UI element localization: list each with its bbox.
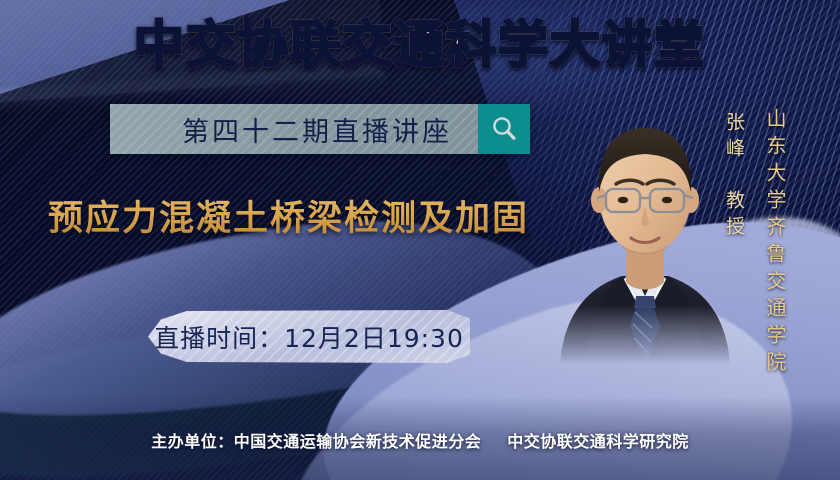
speaker-organization: 山东大学齐鲁交通学院 — [761, 108, 790, 378]
episode-label: 第四十二期直播讲座 — [110, 104, 478, 154]
footer-organizer-secondary: 中交协联交通科学研究院 — [507, 432, 689, 451]
footer-organizer-primary: 中国交通运输协会新技术促进分会 — [234, 432, 482, 451]
search-icon — [489, 114, 519, 144]
speaker-name-and-title: 张峰 教授 — [721, 112, 748, 242]
poster-title: 中交协联交通科学大讲堂 — [0, 14, 840, 76]
broadcast-time-label: 直播时间：12月2日19:30 — [154, 319, 464, 355]
footer-prefix: 主办单位： — [151, 432, 234, 451]
lecture-poster: 中交协联交通科学大讲堂 第四十二期直播讲座 预应力混凝土桥梁检测及加固 直播时间… — [0, 0, 840, 480]
speaker-portrait — [556, 96, 734, 364]
episode-banner: 第四十二期直播讲座 — [110, 104, 530, 154]
broadcast-time-badge: 直播时间：12月2日19:30 — [148, 310, 470, 363]
lecture-topic: 预应力混凝土桥梁检测及加固 — [48, 190, 529, 241]
search-button[interactable] — [478, 104, 530, 154]
footer-organizers: 主办单位：中国交通运输协会新技术促进分会中交协联交通科学研究院 — [0, 428, 840, 452]
